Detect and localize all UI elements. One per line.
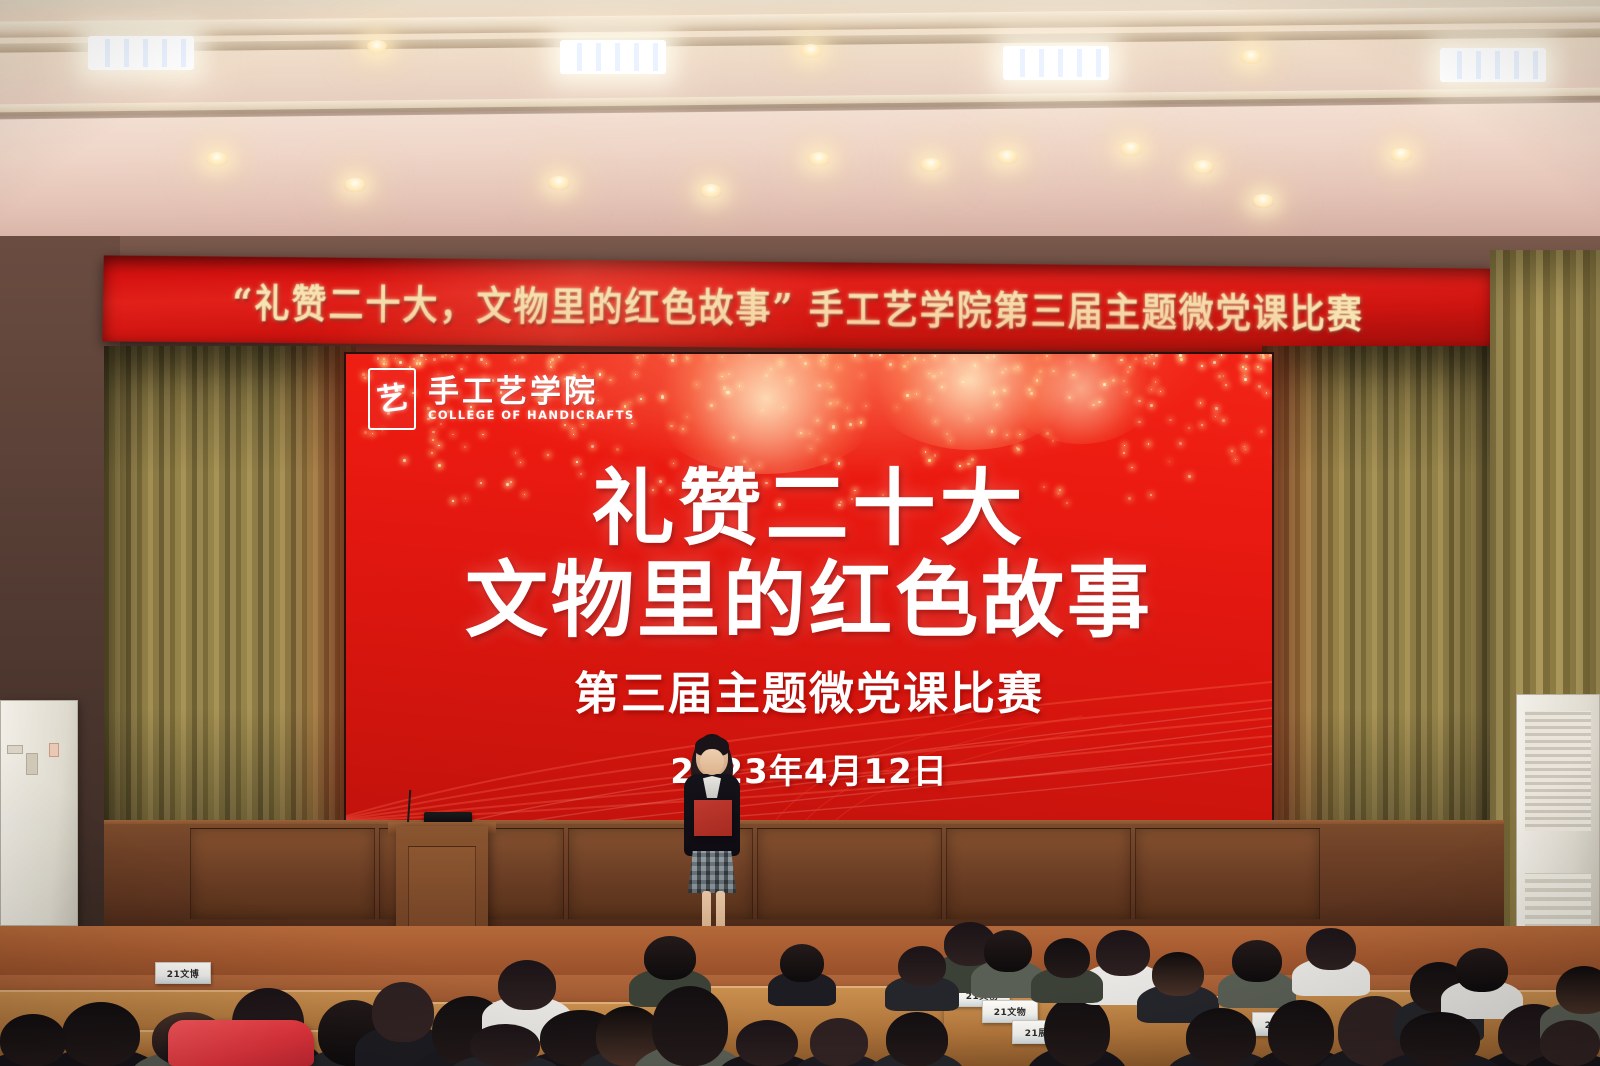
ceiling-downlight [366,40,388,54]
audience-head [372,982,434,1042]
screen-glow [646,352,886,474]
event-banner: “礼赞二十大，文物里的红色故事” 手工艺学院第三届主题微党课比赛 [102,255,1493,354]
screen-subtitle: 第三届主题微党课比赛 [574,657,1044,722]
desk-name-card: 21文博 [155,962,211,984]
logo-name-cn: 手工艺学院 [428,377,635,408]
banner-text: “礼赞二十大，文物里的红色故事” 手工艺学院第三届主题微党课比赛 [232,271,1364,339]
cabinet-label [49,743,59,757]
audience-member [1400,1012,1480,1066]
audience-member [470,1024,540,1066]
audience-head [1268,1000,1334,1066]
audience-head [652,986,728,1066]
ceiling-downlight [808,152,830,166]
audience-head [1186,1008,1256,1066]
audience-head [1400,1012,1480,1066]
ceiling-downlight [700,184,722,198]
audience-head [644,936,696,980]
audience-member [1268,1000,1334,1066]
audience-head [886,1012,948,1066]
ceiling [0,0,1600,250]
cabinet-label [26,753,38,775]
ceiling-downlight [1192,160,1214,174]
audience-member [984,930,1032,972]
floor-cabinet-left [0,700,78,926]
audience-head [1232,940,1282,982]
ceiling-panel-light [1440,48,1546,82]
audience-member [498,960,556,1010]
stage-panel [190,828,375,920]
logo-mark-glyph: 艺 [375,382,409,416]
audience-head [1556,966,1600,1014]
audience-member [898,946,946,986]
audience-head [780,944,824,982]
audience-member [0,1014,66,1066]
audience-member [1044,996,1110,1066]
audience-member [1096,930,1150,976]
ceiling-panel-light [88,36,194,70]
screen-glow [1006,352,1156,444]
audience-member [1044,938,1090,978]
screen-content: 礼赞二十大 文物里的红色故事 第三届主题微党课比赛 2023年4月12日 [346,466,1272,793]
ceiling-downlight [548,176,570,190]
ceiling-downlight [800,44,822,58]
logo-name-en: COLLEGE OF HANDICRAFTS [428,410,635,422]
audience-head [498,960,556,1010]
stage-panel [1135,828,1320,920]
audience-head [736,1020,798,1066]
audience-member [780,944,824,982]
presenter-red-folder [694,800,732,836]
ac-grille [1525,711,1591,831]
ceiling-downlight [1390,148,1412,162]
screen-glow [866,352,1076,450]
auditorium-scene: “礼赞二十大，文物里的红色故事” 手工艺学院第三届主题微党课比赛 [0,0,1600,1066]
college-logo: 艺 手工艺学院 COLLEGE OF HANDICRAFTS [368,368,635,430]
led-presentation-screen: 艺 手工艺学院 COLLEGE OF HANDICRAFTS 礼赞二十大 文物里… [344,352,1274,824]
stage-panel-row [190,828,1320,920]
audience-member [886,1012,948,1066]
logo-mark-icon: 艺 [368,368,416,430]
draped-jacket [168,1020,314,1066]
audience-member [372,982,434,1042]
audience-head [470,1024,540,1066]
audience-member [1152,952,1204,996]
audience-head [0,1014,66,1066]
stage-panel [946,828,1131,920]
logo-text-block: 手工艺学院 COLLEGE OF HANDICRAFTS [428,377,635,422]
audience-head [62,1002,140,1066]
audience-head [1540,1020,1600,1066]
audience-head [984,930,1032,972]
audience-member [1232,940,1282,982]
presenter-plaid-skirt [688,851,736,893]
audience-head [898,946,946,986]
audience-member [1456,948,1508,992]
ceiling-downlight [206,152,228,166]
screen-title-line-1: 礼赞二十大 [592,466,1027,552]
audience-member [1306,928,1356,970]
screen-title-line-2: 文物里的红色故事 [465,558,1153,644]
ceiling-downlight [1120,142,1142,156]
audience-head [1044,996,1110,1066]
ceiling-downlight [344,178,366,192]
audience-head [1044,938,1090,978]
audience-head [1456,948,1508,992]
audience-member [1186,1008,1256,1066]
audience-member [1556,966,1600,1014]
audience-member [810,1018,868,1066]
ceiling-downlight [996,150,1018,164]
ceiling-downlight [1252,194,1274,208]
audience-head [1306,928,1356,970]
audience-member [62,1002,140,1066]
audience-head [1096,930,1150,976]
ceiling-panel-light [560,40,666,74]
audience-member [1540,1020,1600,1066]
audience-head [1152,952,1204,996]
audience-member [652,986,728,1066]
audience-head [810,1018,868,1066]
ceiling-downlight [1240,50,1262,64]
presenter [676,738,748,950]
ceiling-panel-light [1003,46,1109,80]
audience-member [644,936,696,980]
audience-member [736,1020,798,1066]
presenter-face [700,749,724,775]
stage-panel [757,828,942,920]
ceiling-downlight [920,158,942,172]
cabinet-label [7,745,23,754]
